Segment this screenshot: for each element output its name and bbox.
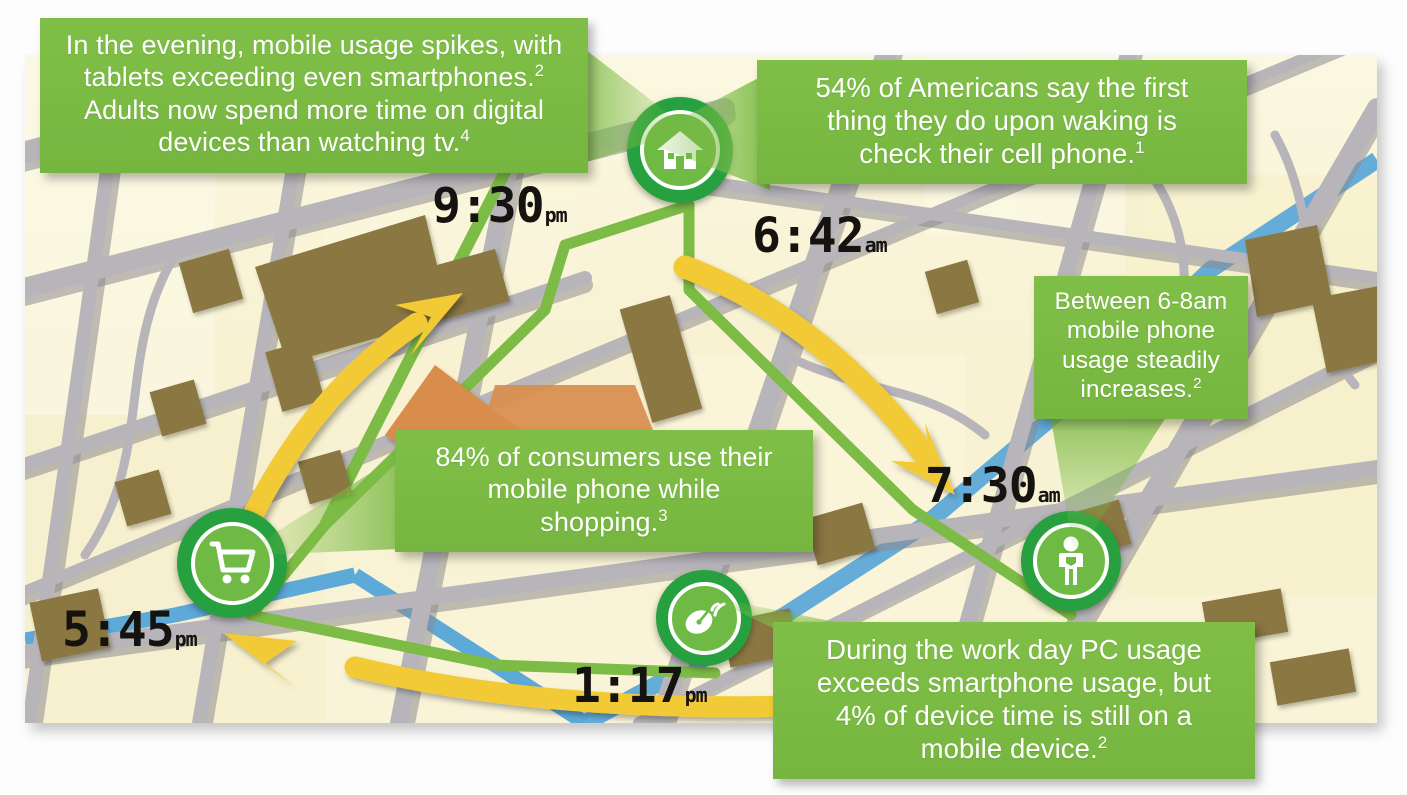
pin-ring — [640, 110, 720, 190]
clock-evening: 9:30pm — [432, 178, 567, 234]
clock-time: 7:30 — [925, 458, 1037, 514]
clock-meridiem: pm — [545, 203, 567, 227]
callout-line: In the evening, mobile usage spikes, wit… — [56, 29, 572, 61]
callout-morning[interactable]: Between 6-8am mobile phone usage steadil… — [1034, 276, 1248, 419]
home-icon — [656, 129, 704, 171]
callout-line-text: mobile device. — [921, 733, 1098, 764]
callout-line-text: check their cell phone. — [859, 138, 1135, 169]
clock-time: 6:42 — [752, 208, 864, 264]
clock-wake: 6:42am — [752, 208, 887, 264]
office-worker-icon — [1050, 536, 1092, 586]
callout-line-text: shopping. — [540, 507, 658, 537]
footnote-marker: 2 — [1098, 733, 1108, 752]
callout-line: thing they do upon waking is — [773, 104, 1231, 137]
callout-line: increases.2 — [1050, 375, 1232, 404]
callout-line-text: increases. — [1080, 376, 1193, 403]
clock-shopping: 5:45pm — [62, 602, 197, 658]
clock-time: 1:17 — [572, 658, 684, 714]
callout-line: mobile device.2 — [789, 732, 1239, 765]
clock-time: 5:45 — [62, 602, 174, 658]
callout-morning-box: Between 6-8am mobile phone usage steadil… — [1034, 276, 1248, 419]
footnote-marker: 3 — [658, 506, 667, 525]
callout-workday[interactable]: During the work day PC usage exceeds sma… — [773, 622, 1255, 779]
callout-line-text: tablets exceeding even smartphones. — [84, 62, 535, 92]
callout-workday-box: During the work day PC usage exceeds sma… — [773, 622, 1255, 779]
pin-ring — [191, 522, 274, 605]
clock-time: 9:30 — [432, 178, 544, 234]
map-pin-work[interactable] — [1021, 511, 1121, 611]
clock-commute: 7:30am — [925, 458, 1060, 514]
callout-line: During the work day PC usage — [789, 633, 1239, 666]
shopping-cart-icon — [208, 540, 256, 586]
footnote-marker: 2 — [1193, 375, 1202, 392]
callout-waking[interactable]: 54% of Americans say the first thing the… — [757, 60, 1247, 184]
footnote-marker: 2 — [535, 61, 544, 80]
wireless-mouse-icon — [681, 596, 727, 640]
footnote-marker: 1 — [1135, 138, 1145, 157]
clock-meridiem: am — [865, 233, 887, 257]
clock-meridiem: am — [1038, 483, 1060, 507]
callout-line: Adults now spend more time on digital — [56, 94, 572, 126]
callout-evening[interactable]: In the evening, mobile usage spikes, wit… — [40, 18, 588, 173]
callout-line: 54% of Americans say the first — [773, 71, 1231, 104]
clock-lunch: 1:17pm — [572, 658, 707, 714]
callout-line: shopping.3 — [411, 506, 797, 538]
callout-line: check their cell phone.1 — [773, 137, 1231, 170]
clock-meridiem: pm — [685, 683, 707, 707]
callout-line: 4% of device time is still on a — [789, 699, 1239, 732]
infographic-canvas: In the evening, mobile usage spikes, wit… — [0, 0, 1407, 795]
callout-line: exceeds smartphone usage, but — [789, 666, 1239, 699]
callout-line: usage steadily — [1050, 346, 1232, 375]
callout-evening-box: In the evening, mobile usage spikes, wit… — [40, 18, 588, 173]
footnote-marker: 4 — [460, 126, 469, 145]
callout-line: mobile phone — [1050, 316, 1232, 345]
callout-line: devices than watching tv.4 — [56, 126, 572, 158]
pin-ring — [1033, 523, 1109, 599]
callout-line: tablets exceeding even smartphones.2 — [56, 61, 572, 93]
callout-line: Between 6-8am — [1050, 287, 1232, 316]
pin-ring — [668, 582, 741, 655]
map-pin-shopping[interactable] — [177, 508, 287, 618]
callout-shopping[interactable]: 84% of consumers use their mobile phone … — [395, 430, 813, 552]
clock-meridiem: pm — [175, 627, 197, 651]
map-pin-pc-use[interactable] — [656, 570, 752, 666]
callout-line-text: devices than watching tv. — [158, 127, 460, 157]
callout-shopping-box: 84% of consumers use their mobile phone … — [395, 430, 813, 552]
map-pin-home[interactable] — [627, 97, 733, 203]
callout-line: mobile phone while — [411, 473, 797, 505]
callout-waking-box: 54% of Americans say the first thing the… — [757, 60, 1247, 184]
callout-line: 84% of consumers use their — [411, 441, 797, 473]
